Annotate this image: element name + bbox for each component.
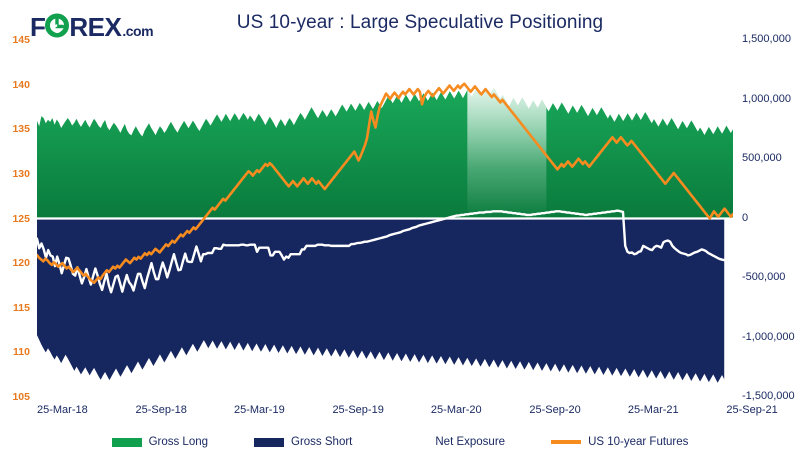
- y-axis-right-tick: -500,000: [742, 272, 785, 283]
- y-axis-right-tick: 1,000,000: [742, 94, 791, 105]
- y-axis-right-tick: 500,000: [742, 153, 782, 164]
- y-axis-left-tick: 105: [0, 392, 30, 403]
- legend-item[interactable]: Gross Long: [112, 436, 208, 448]
- y-axis-right-tick: -1,500,000: [742, 391, 795, 402]
- y-axis-left-tick: 120: [0, 258, 30, 269]
- legend-swatch-icon: [112, 438, 142, 447]
- legend-label: Gross Short: [291, 436, 352, 448]
- x-axis-tick: 25-Mar-21: [628, 405, 679, 416]
- legend-swatch-icon: [254, 438, 284, 447]
- y-axis-right-tick: -1,000,000: [742, 332, 795, 343]
- x-axis-tick: 25-Sep-18: [135, 405, 186, 416]
- x-axis-tick: 25-Sep-19: [332, 405, 383, 416]
- y-axis-right-tick: 1,500,000: [742, 34, 791, 45]
- y-axis-left-tick: 125: [0, 214, 30, 225]
- y-axis-left-tick: 115: [0, 303, 30, 314]
- y-axis-left-tick: 140: [0, 80, 30, 91]
- legend-label: Net Exposure: [435, 436, 505, 448]
- legend-label: Gross Long: [149, 436, 208, 448]
- x-axis-tick: 25-Mar-19: [234, 405, 285, 416]
- legend-swatch-icon: [398, 440, 428, 444]
- legend-item[interactable]: Gross Short: [254, 436, 352, 448]
- y-axis-left-tick: 145: [0, 35, 30, 46]
- legend-label: US 10-year Futures: [588, 436, 688, 448]
- series-gross-long-area: [37, 88, 733, 218]
- x-axis-tick: 25-Mar-18: [37, 405, 88, 416]
- y-axis-right-tick: 0: [742, 213, 748, 224]
- y-axis-left-tick: 130: [0, 169, 30, 180]
- legend-swatch-icon: [551, 440, 581, 444]
- y-axis-left-tick: 110: [0, 347, 30, 358]
- x-axis-tick: 25-Sep-21: [726, 405, 777, 416]
- y-axis-left-tick: 135: [0, 124, 30, 135]
- x-axis-tick: 25-Mar-20: [431, 405, 482, 416]
- series-gross-short-area: [37, 219, 724, 383]
- legend-item[interactable]: US 10-year Futures: [551, 436, 688, 448]
- x-axis-tick: 25-Sep-20: [529, 405, 580, 416]
- legend-item[interactable]: Net Exposure: [398, 436, 505, 448]
- chart-legend: Gross LongGross ShortNet ExposureUS 10-y…: [0, 436, 800, 448]
